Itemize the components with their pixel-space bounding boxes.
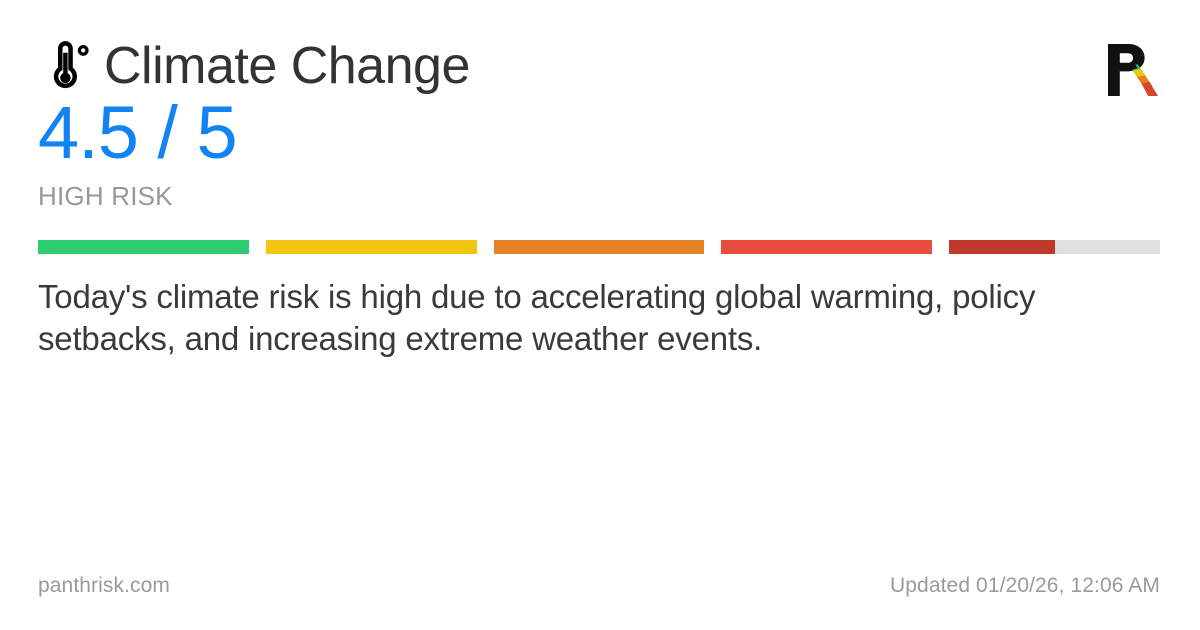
meter-segment-2-fill xyxy=(266,240,477,254)
meter-segment-4 xyxy=(721,240,932,254)
meter-segment-5 xyxy=(949,240,1160,254)
thermometer-icon xyxy=(38,38,94,94)
footer: panthrisk.com Updated 01/20/26, 12:06 AM xyxy=(38,574,1160,598)
meter-segment-3-fill xyxy=(494,240,705,254)
site-name: panthrisk.com xyxy=(38,574,170,598)
page-title-text: Climate Change xyxy=(104,38,470,94)
panthrisk-r-logo[interactable] xyxy=(1102,42,1160,98)
risk-meter xyxy=(38,240,1160,254)
page-title: Climate Change xyxy=(38,38,470,94)
meter-segment-5-fill xyxy=(949,240,1054,254)
header: Climate Change xyxy=(38,38,1160,98)
updated-timestamp: Updated 01/20/26, 12:06 AM xyxy=(890,574,1160,598)
risk-score: 4.5 / 5 xyxy=(38,96,1160,170)
meter-segment-1-fill xyxy=(38,240,249,254)
meter-segment-4-fill xyxy=(721,240,932,254)
meter-segment-2 xyxy=(266,240,477,254)
risk-level-label: HIGH RISK xyxy=(38,182,1160,211)
meter-segment-3 xyxy=(494,240,705,254)
risk-description: Today's climate risk is high due to acce… xyxy=(38,276,1148,360)
risk-summary-card: Climate Change 4.5 / 5 HIGH RISK Today's… xyxy=(0,0,1200,630)
meter-segment-1 xyxy=(38,240,249,254)
